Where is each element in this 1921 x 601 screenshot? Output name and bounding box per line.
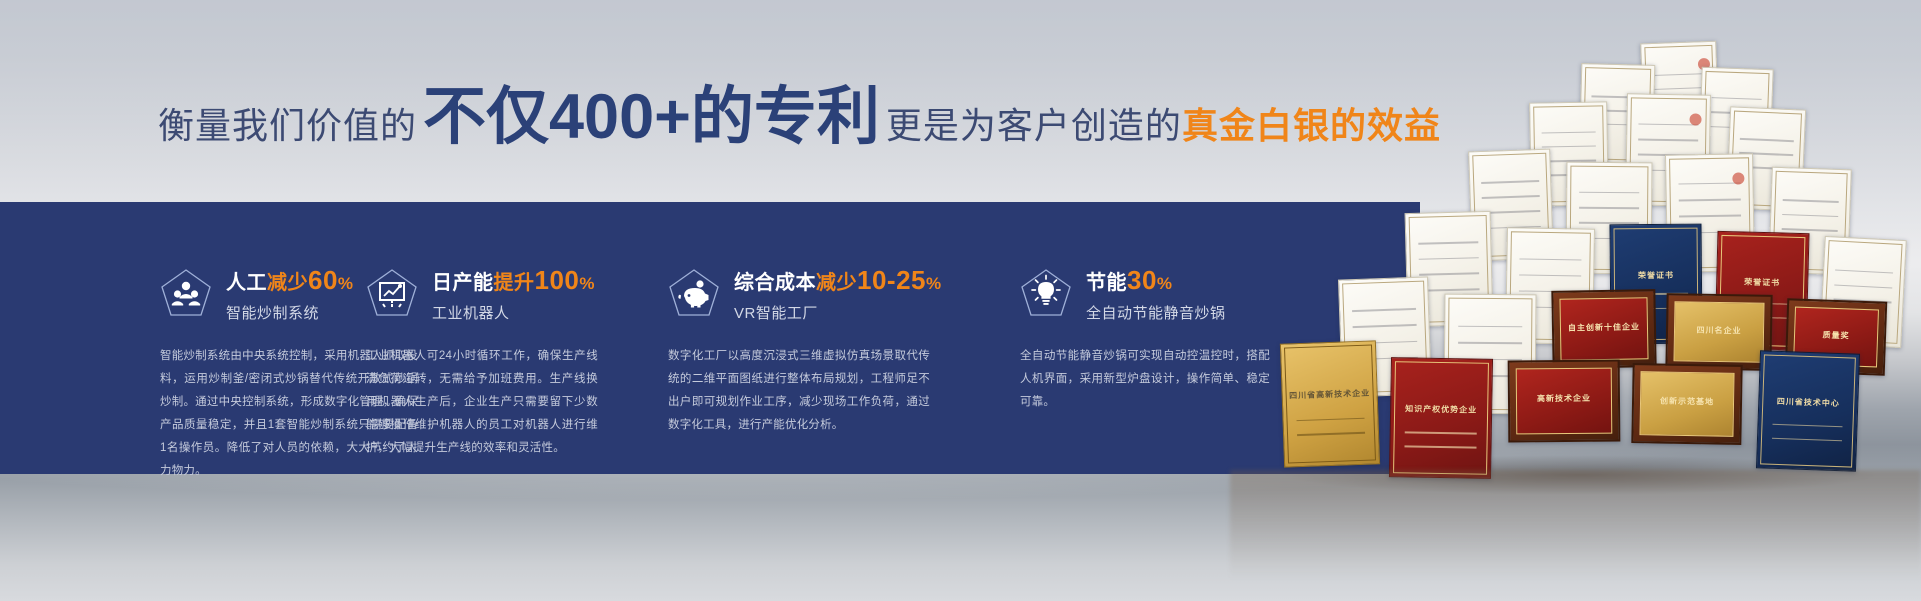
headline-middle: 更是为客户创造的 [886, 97, 1182, 149]
feature-subtitle-2: 工业机器人 [432, 302, 595, 323]
feature-title-keyword: 减少 [816, 272, 857, 294]
people-group-icon [160, 268, 212, 318]
feature-title-4: 节能30% [1086, 266, 1226, 296]
feature-title-prefix: 人工 [226, 272, 267, 294]
feature-body-3: 数字化工厂以高度沉浸式三维虚拟仿真场景取代传统的二维平面图纸进行整体布局规划，工… [668, 345, 930, 437]
feature-title-unit: % [926, 274, 942, 293]
piggy-bank-icon [668, 268, 720, 318]
certificate-item: 四川省高新技术企业 [1280, 340, 1380, 467]
headline-prefix: 衡量我们价值的 [158, 97, 417, 149]
feature-subtitle-3: VR智能工厂 [734, 302, 942, 323]
feature-title-prefix: 日产能 [432, 272, 494, 294]
features-panel: 人工减少60% 智能炒制系统 智能炒制系统由中央系统控制，采用机器人抓取投料，运… [0, 202, 1420, 474]
plaque-item: 自主创新十佳企业 [1551, 289, 1656, 369]
plaque-item: 四川名企业 [1665, 293, 1772, 371]
plaque-item: 创新示范基地 [1631, 363, 1742, 445]
feature-title-prefix: 节能 [1086, 272, 1127, 294]
feature-title-number: 100 [535, 265, 580, 295]
certificate-item: 四川省技术中心 [1756, 350, 1860, 471]
feature-title-prefix: 综合成本 [734, 272, 816, 294]
feature-body-2: 工业机器人可24小时循环工作，确保生产线满负荷运转，无需给予加班费用。生产线换用… [366, 345, 598, 460]
promo-banner: 衡量我们价值的 不仅400+的专利 更是为客户创造的 真金白银的效益 [0, 0, 1921, 601]
feature-title-number: 30 [1127, 265, 1157, 295]
feature-block-3: 综合成本减少10-25% VR智能工厂 数字化工厂以高度沉浸式三维虚拟仿真场景取… [630, 202, 980, 474]
feature-title-unit: % [1157, 274, 1173, 293]
feature-block-2: 日产能提升100% 工业机器人 工业机器人可24小时循环工作，确保生产线满负荷运… [330, 202, 630, 474]
certificates-pile: 荣誉证书 荣誉证书 自主创新十佳企业 四川名企业 质量奖 四川省高新技术企业 知… [1230, 42, 1921, 512]
feature-title-unit: % [579, 274, 595, 293]
certificate-item: 知识产权优势企业 [1389, 357, 1493, 479]
feature-block-1: 人工减少60% 智能炒制系统 智能炒制系统由中央系统控制，采用机器人抓取投料，运… [0, 202, 330, 474]
feature-title-number: 10-25 [857, 265, 926, 295]
feature-title-keyword: 提升 [494, 272, 535, 294]
feature-subtitle-4: 全自动节能静音炒锅 [1086, 302, 1226, 323]
plaque-item: 高新技术企业 [1508, 360, 1621, 443]
chart-board-icon [366, 268, 418, 318]
feature-title-3: 综合成本减少10-25% [734, 266, 942, 296]
headline-strong: 不仅400+的专利 [423, 86, 880, 149]
feature-title-2: 日产能提升100% [432, 266, 595, 296]
lightbulb-icon [1020, 268, 1072, 318]
feature-title-keyword: 减少 [267, 272, 308, 294]
